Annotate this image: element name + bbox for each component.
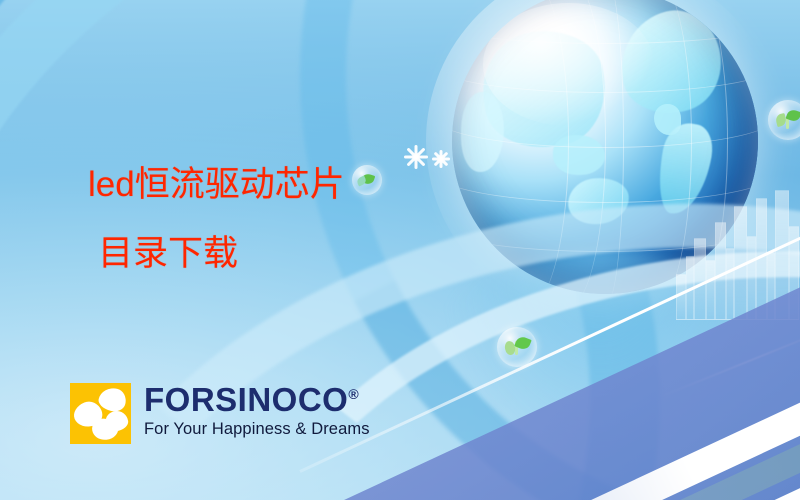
registered-mark-icon: ® (348, 386, 359, 402)
globe-sphere (452, 0, 758, 294)
globe-rim-shading (452, 0, 758, 294)
headline-text: led恒流驱动芯片 目录下载 (88, 163, 345, 277)
headline-line-2: 目录下载 (98, 232, 345, 277)
globe-latitude-line (452, 0, 758, 44)
brand-wordmark: FORSINOCO (144, 381, 348, 418)
globe-longitude-line (617, 0, 691, 294)
globe-latitude-line (452, 196, 758, 252)
poster-banner: led恒流驱动芯片 目录下载 FORSINOCO® For Your Happi… (0, 0, 800, 500)
globe-longitude-line (648, 0, 729, 294)
headline-latin: led (88, 165, 135, 204)
logo-text-block: FORSINOCO® For Your Happiness & Dreams (144, 383, 370, 439)
globe-latitude-line (452, 37, 758, 93)
bubble-eco-right (768, 100, 800, 140)
continent-asia (475, 23, 612, 155)
continent-africa (461, 92, 504, 172)
brand-logo: FORSINOCO® For Your Happiness & Dreams (70, 383, 370, 444)
continent-australia (566, 175, 632, 227)
globe-highlight (483, 3, 654, 125)
globe-longitude-line (532, 0, 606, 294)
bubble-eco-lower (497, 327, 537, 367)
headline-line-1: led恒流驱动芯片 (88, 163, 345, 208)
continent-southeast-asia (553, 135, 605, 175)
continent-central-america (654, 104, 682, 135)
headline-cjk: 恒流驱动芯片 (135, 165, 345, 204)
brand-name: FORSINOCO® (144, 383, 370, 416)
globe-longitude-line (587, 0, 625, 294)
globe-longitude-line (489, 0, 570, 294)
earth-globe (452, 0, 758, 294)
four-petal-flower-mark-icon (70, 383, 131, 444)
continent-north-america (610, 2, 732, 124)
globe-latitude-line (452, 86, 758, 148)
bubble-eco-left (352, 165, 382, 195)
continent-south-america (652, 119, 716, 218)
brand-tagline: For Your Happiness & Dreams (144, 420, 370, 439)
globe-latitude-line (452, 141, 758, 203)
